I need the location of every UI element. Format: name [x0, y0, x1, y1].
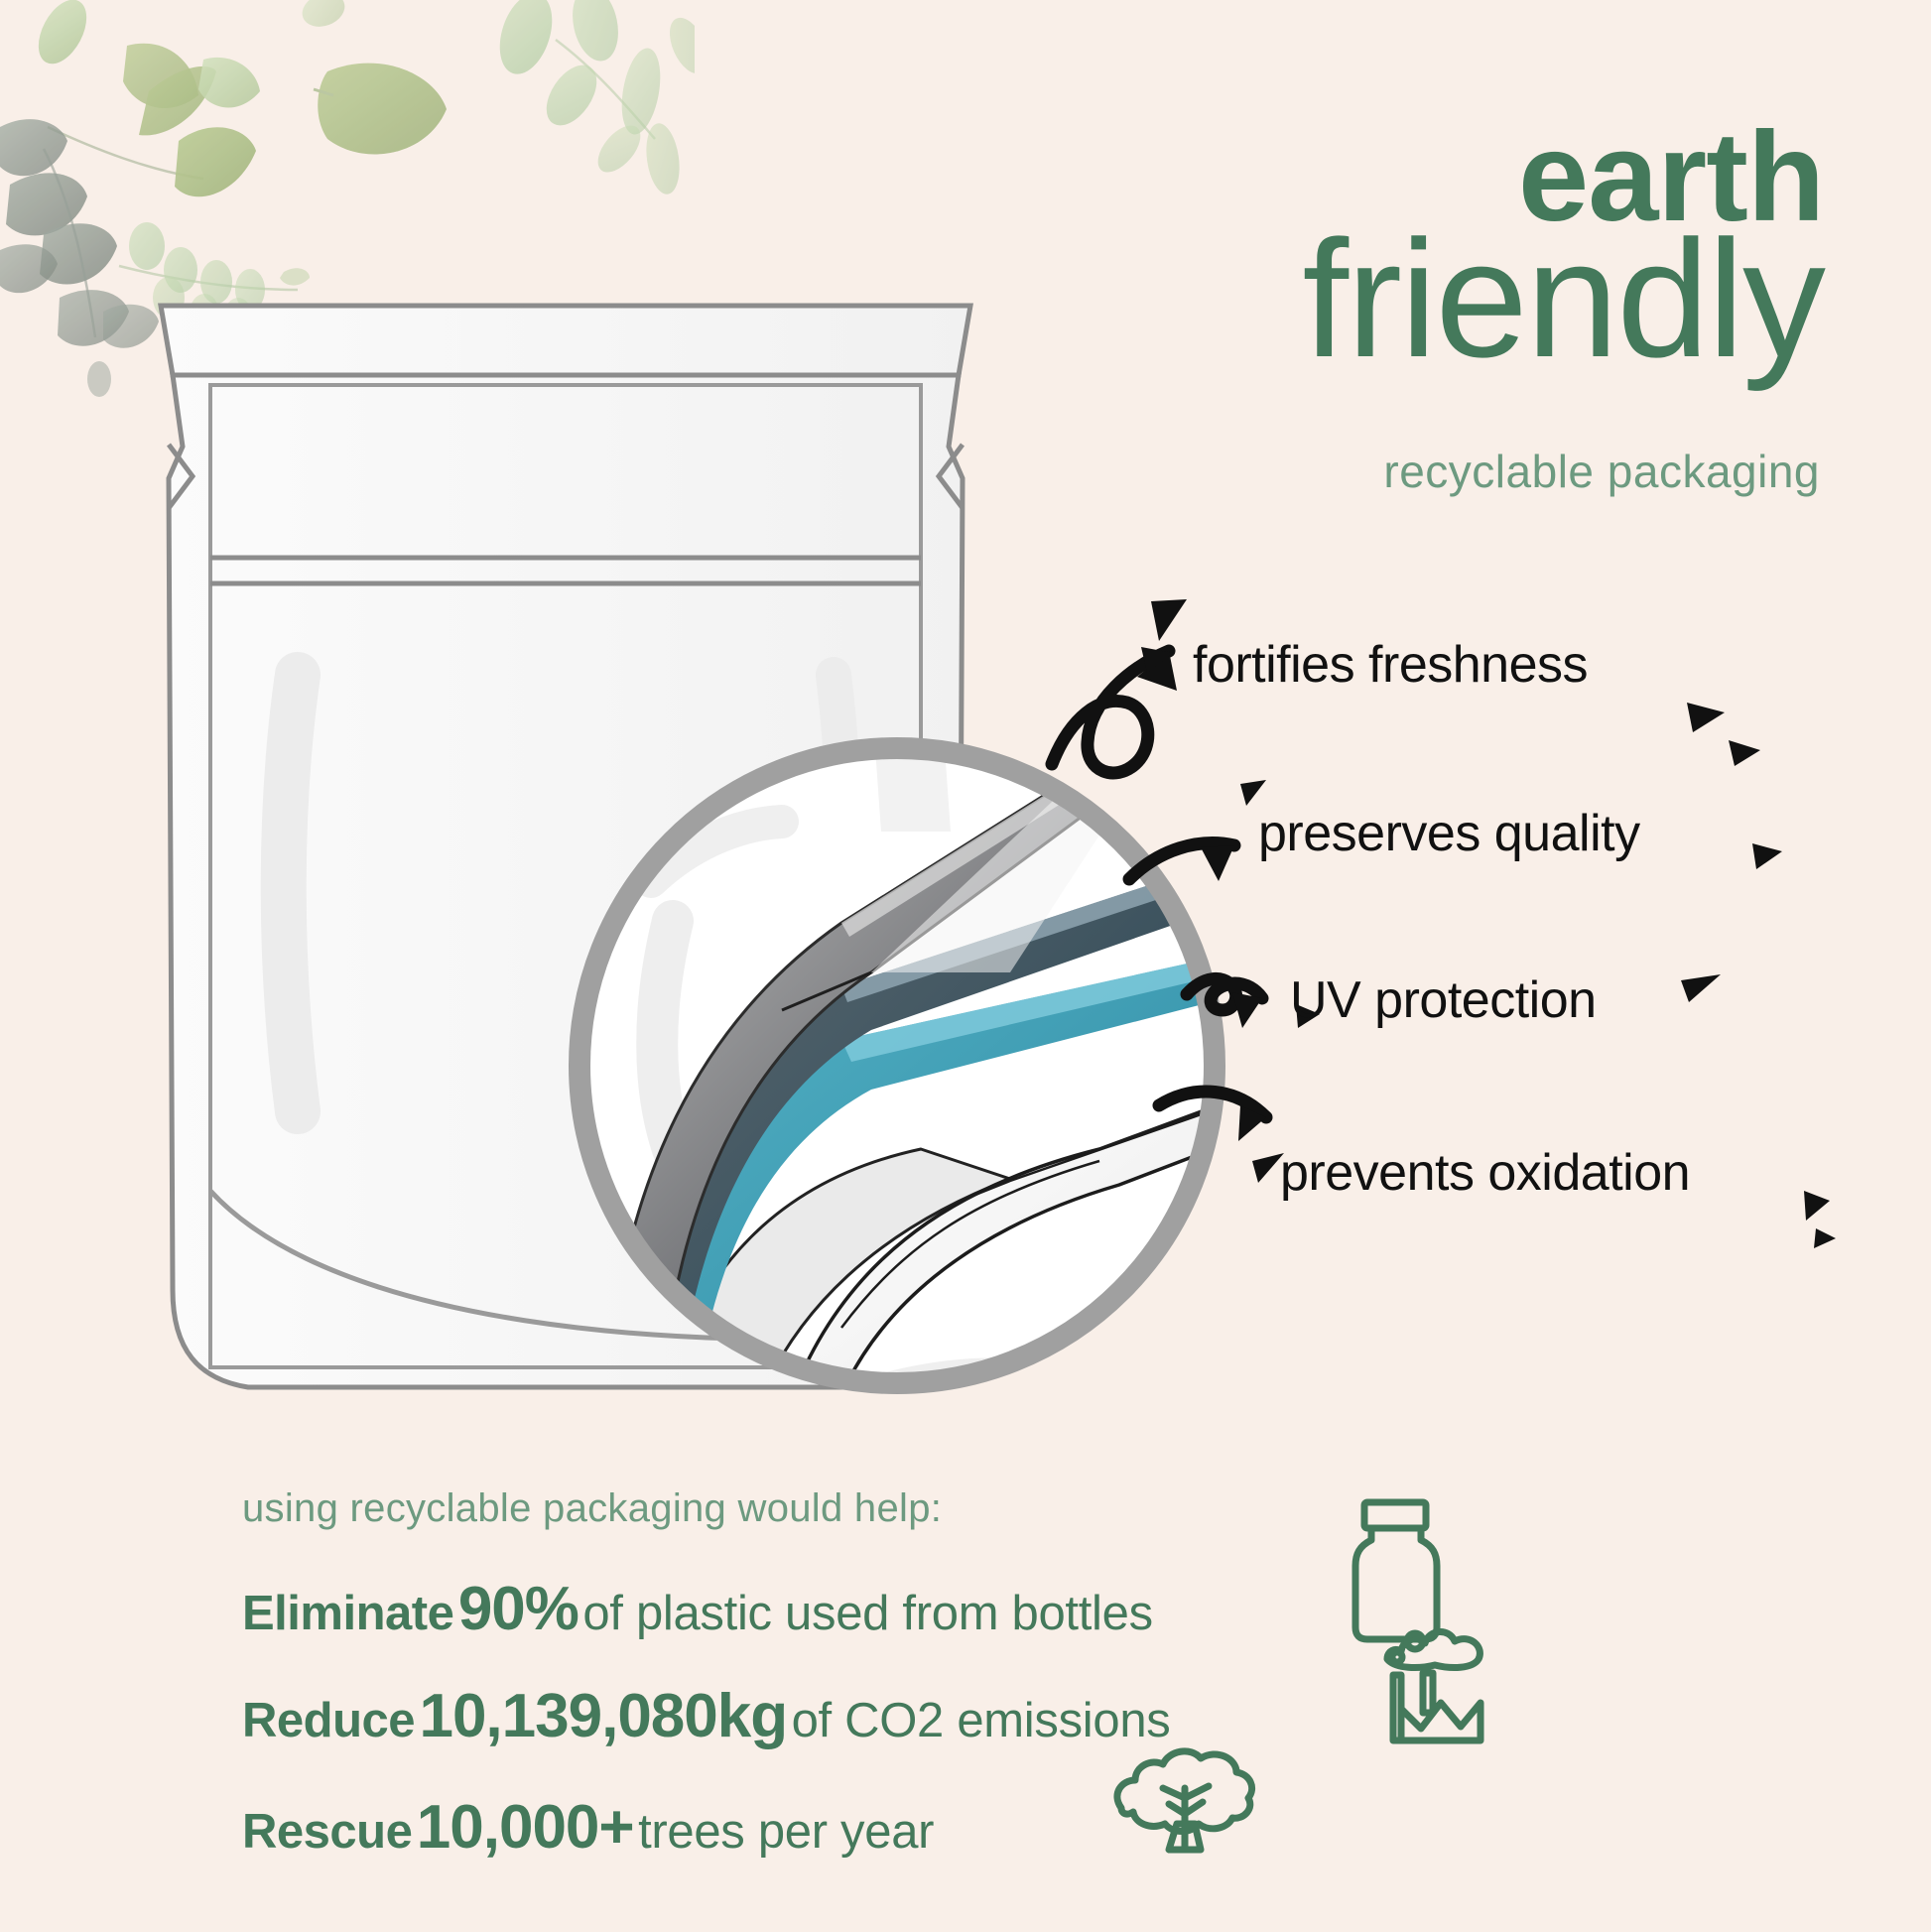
stat-value: 90% [458, 1575, 579, 1643]
page-title: earth friendly [1302, 119, 1824, 375]
feature-label-uv-protection: UV protection [1290, 970, 1597, 1030]
stat-row: Rescue 10,000+ trees per year [242, 1792, 934, 1863]
stat-row: Eliminate 90% of plastic used from bottl… [242, 1574, 1153, 1644]
tree-icon [1099, 1739, 1268, 1887]
infographic-canvas: earth friendly recyclable packaging fort… [0, 0, 1931, 1932]
subtitle: recyclable packaging [1383, 445, 1820, 498]
stat-verb: Reduce [242, 1694, 415, 1747]
stat-tail: of plastic used from bottles [582, 1587, 1152, 1640]
stat-verb: Eliminate [242, 1587, 453, 1640]
feature-label-fortifies-freshness: fortifies freshness [1193, 635, 1588, 695]
feature-label-preserves-quality: preserves quality [1258, 804, 1640, 863]
title-line-friendly: friendly [1302, 222, 1824, 376]
stat-verb: Rescue [242, 1805, 412, 1859]
stat-tail: trees per year [638, 1805, 934, 1859]
factory-icon [1379, 1617, 1508, 1756]
stat-row: Reduce 10,139,080kg of CO2 emissions [242, 1681, 1170, 1751]
stat-value: 10,000+ [417, 1793, 634, 1862]
stat-value: 10,139,080kg [419, 1682, 787, 1750]
feature-label-prevents-oxidation: prevents oxidation [1280, 1143, 1690, 1203]
stats-intro: using recyclable packaging would help: [242, 1486, 942, 1531]
material-layers-magnifier [544, 712, 1250, 1419]
